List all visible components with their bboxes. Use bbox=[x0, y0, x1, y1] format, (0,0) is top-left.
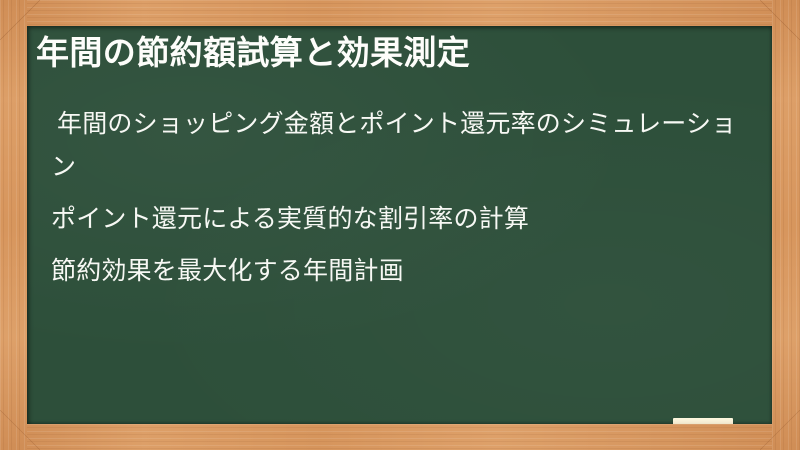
chalkboard-slide: 年間の節約額試算と効果測定 年間のショッピング金額とポイント還元率のシミュレーシ… bbox=[0, 0, 800, 450]
slide-title: 年間の節約額試算と効果測定 bbox=[36, 33, 756, 74]
list-item: 年間のショッピング金額とポイント還元率のシミュレーション bbox=[51, 103, 751, 189]
list-item: 節約効果を最大化する年間計画 bbox=[51, 250, 751, 293]
wooden-frame-bottom bbox=[0, 424, 800, 450]
wooden-frame-left bbox=[0, 0, 27, 450]
bullet-list: 年間のショッピング金額とポイント還元率のシミュレーション ポイント還元による実質… bbox=[51, 103, 751, 302]
chalk-stick-icon bbox=[673, 418, 733, 424]
list-item: ポイント還元による実質的な割引率の計算 bbox=[51, 198, 751, 241]
chalkboard-surface: 年間の節約額試算と効果測定 年間のショッピング金額とポイント還元率のシミュレーシ… bbox=[27, 26, 772, 424]
wooden-frame-top bbox=[0, 0, 800, 26]
wooden-frame-right bbox=[772, 0, 800, 450]
